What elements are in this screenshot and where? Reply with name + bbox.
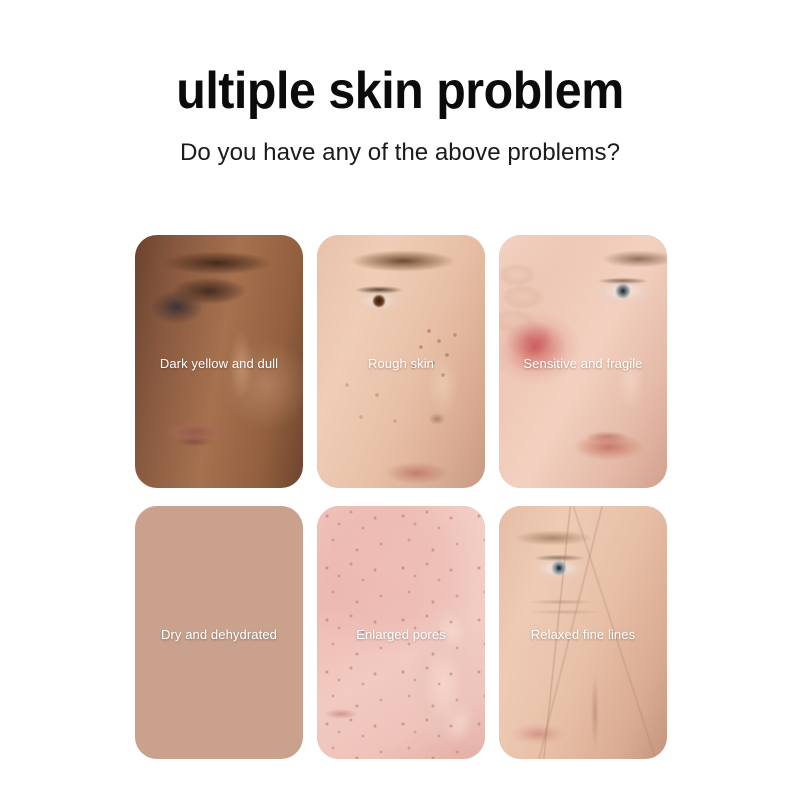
skin-problem-label: Rough skin <box>317 356 485 372</box>
skin-problem-label: Enlarged pores <box>317 627 485 643</box>
page-subtitle: Do you have any of the above problems? <box>6 138 794 168</box>
skin-problem-card[interactable]: Relaxed fine lines <box>499 506 667 759</box>
infographic-page: ultiple skin problem Do you have any of … <box>0 0 800 800</box>
page-title: ultiple skin problem <box>28 62 772 120</box>
skin-problem-card[interactable]: Rough skin <box>317 235 485 488</box>
skin-problem-label: Dry and dehydrated <box>135 627 303 643</box>
skin-problem-grid: Dark yellow and dull Rough skin Sensitiv… <box>135 235 667 759</box>
skin-problem-card[interactable]: Sensitive and fragile <box>499 235 667 488</box>
skin-problem-card[interactable]: Dark yellow and dull <box>135 235 303 488</box>
skin-problem-label: Relaxed fine lines <box>499 627 667 643</box>
skin-problem-label: Dark yellow and dull <box>135 356 303 372</box>
skin-problem-label: Sensitive and fragile <box>499 356 667 372</box>
header: ultiple skin problem Do you have any of … <box>0 62 800 168</box>
skin-problem-card[interactable]: Enlarged pores <box>317 506 485 759</box>
skin-problem-card[interactable]: Dry and dehydrated <box>135 506 303 759</box>
